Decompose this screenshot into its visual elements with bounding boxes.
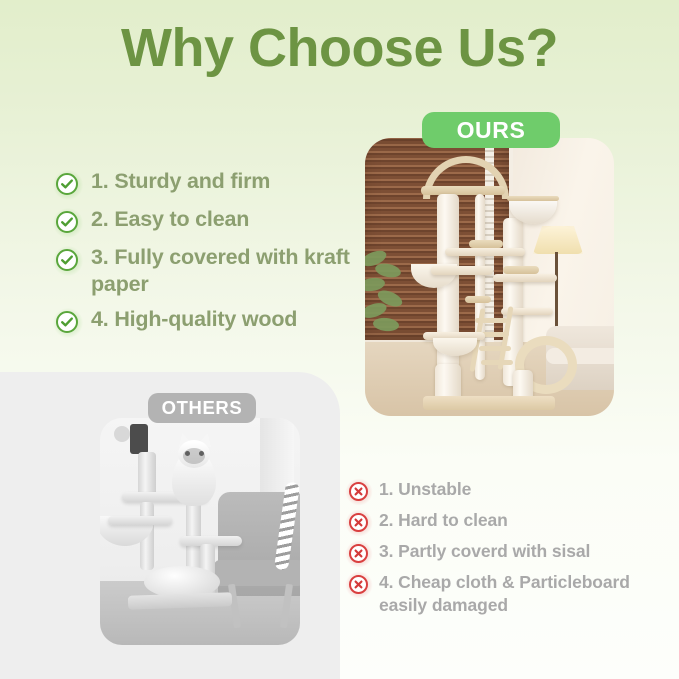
cat-icon xyxy=(166,432,222,506)
list-item: 3. Partly coverd with sisal xyxy=(348,540,670,565)
ours-badge: OURS xyxy=(422,112,560,148)
list-item-label: 1. Sturdy and firm xyxy=(91,168,270,195)
list-item-number: 2. xyxy=(379,510,393,530)
list-item-text: Cheap cloth & Particleboard easily damag… xyxy=(379,572,630,615)
list-item-text: Easy to clean xyxy=(114,207,249,231)
check-circle-icon xyxy=(55,248,81,274)
list-item-number: 4. xyxy=(379,572,393,592)
list-item: 1. Sturdy and firm xyxy=(55,168,365,198)
list-item-text: Hard to clean xyxy=(398,510,508,530)
list-item: 4. Cheap cloth & Particleboard easily da… xyxy=(348,571,670,617)
pros-list: 1. Sturdy and firm 2. Easy to clean xyxy=(55,168,365,344)
others-badge: OTHERS xyxy=(148,393,256,423)
list-item-number: 3. xyxy=(379,541,393,561)
list-item-number: 1. xyxy=(91,169,109,193)
check-circle-icon xyxy=(55,172,81,198)
cons-list: 1. Unstable 2. Hard to clean xyxy=(348,478,670,623)
check-circle-icon xyxy=(55,210,81,236)
x-circle-icon xyxy=(348,543,370,565)
list-item-number: 3. xyxy=(91,245,109,269)
list-item-label: 3. Partly coverd with sisal xyxy=(379,540,590,563)
ours-product-image xyxy=(365,138,614,416)
comparison-poster: Why Choose Us? 1. Sturdy and firm xyxy=(0,0,679,679)
list-item: 2. Hard to clean xyxy=(348,509,670,534)
list-item-label: 2. Easy to clean xyxy=(91,206,249,233)
list-item-label: 4. Cheap cloth & Particleboard easily da… xyxy=(379,571,670,617)
x-circle-icon xyxy=(348,481,370,503)
x-circle-icon xyxy=(348,512,370,534)
list-item-label: 3. Fully covered with kraft paper xyxy=(91,244,365,298)
list-item: 1. Unstable xyxy=(348,478,670,503)
list-item-text: High-quality wood xyxy=(114,307,297,331)
list-item-text: Partly coverd with sisal xyxy=(398,541,590,561)
list-item-text: Unstable xyxy=(398,479,471,499)
list-item-number: 4. xyxy=(91,307,109,331)
list-item-number: 1. xyxy=(379,479,393,499)
plant-icon xyxy=(365,246,415,342)
others-product-image xyxy=(100,418,300,645)
list-item: 3. Fully covered with kraft paper xyxy=(55,244,365,298)
list-item-label: 1. Unstable xyxy=(379,478,471,501)
list-item: 4. High-quality wood xyxy=(55,306,365,336)
list-item-text: Fully covered with kraft paper xyxy=(91,245,350,296)
x-circle-icon xyxy=(348,574,370,596)
check-circle-icon xyxy=(55,310,81,336)
list-item-number: 2. xyxy=(91,207,109,231)
list-item: 2. Easy to clean xyxy=(55,206,365,236)
list-item-text: Sturdy and firm xyxy=(114,169,270,193)
list-item-label: 2. Hard to clean xyxy=(379,509,508,532)
list-item-label: 4. High-quality wood xyxy=(91,306,297,333)
page-title: Why Choose Us? xyxy=(0,20,679,77)
